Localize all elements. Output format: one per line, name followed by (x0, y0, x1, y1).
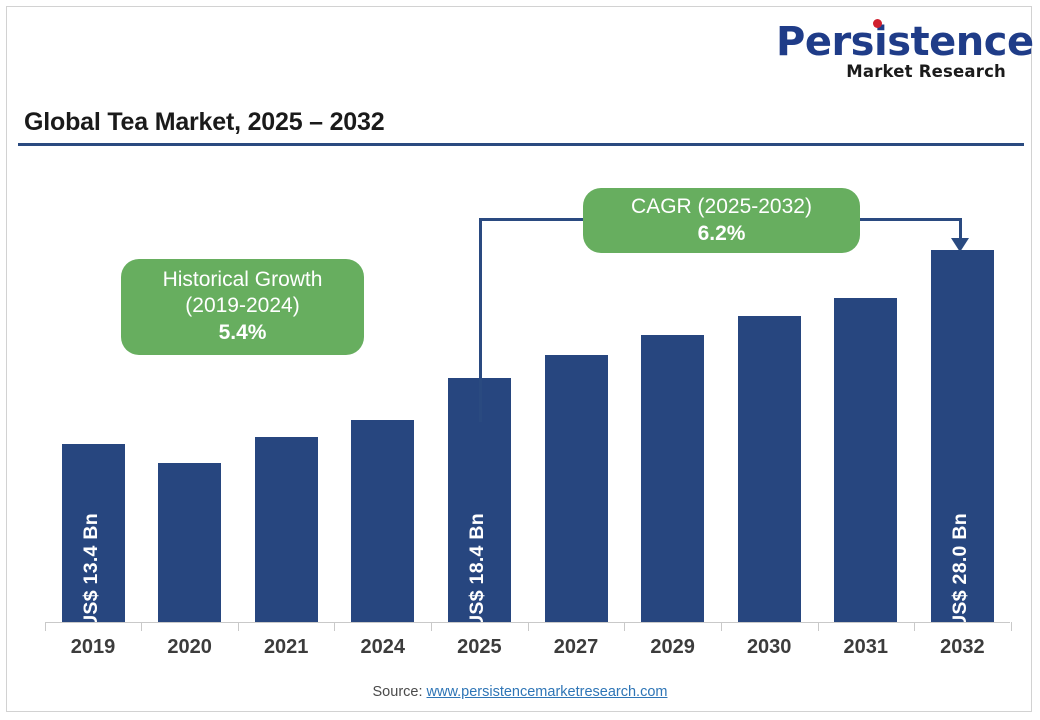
source-link[interactable]: www.persistencemarketresearch.com (427, 684, 668, 700)
source-line: Source: www.persistencemarketresearch.co… (0, 684, 1040, 700)
connector-stem (479, 374, 482, 422)
x-tick-9 (914, 622, 915, 631)
callout-cagr-line1: CAGR (2025-2032) (631, 194, 812, 220)
x-label-2025: 2025 (429, 636, 529, 659)
bar-2030 (738, 316, 801, 622)
x-tick-4 (431, 622, 432, 631)
callout-historical-growth: Historical Growth (2019-2024) 5.4% (121, 259, 364, 355)
bar-value-label-2019: US$ 13.4 Bn (80, 513, 103, 629)
bar-value-label-2032: US$ 28.0 Bn (949, 513, 972, 629)
x-label-2027: 2027 (526, 636, 626, 659)
connector-arrow-icon (951, 238, 969, 252)
callout-historical-line1: Historical Growth (163, 267, 323, 293)
bar-value-label-2025: US$ 18.4 Bn (466, 513, 489, 629)
x-label-2032: 2032 (912, 636, 1012, 659)
x-tick-5 (528, 622, 529, 631)
x-tick-0 (45, 622, 46, 631)
x-label-2021: 2021 (236, 636, 336, 659)
x-tick-3 (334, 622, 335, 631)
source-prefix: Source: (373, 684, 427, 700)
x-tick-8 (818, 622, 819, 631)
plot-area: US$ 13.4 BnUS$ 18.4 BnUS$ 28.0 Bn 201920… (0, 0, 1040, 720)
x-label-2020: 2020 (140, 636, 240, 659)
x-tick-7 (721, 622, 722, 631)
bar-2020 (158, 463, 221, 622)
x-tick-2 (238, 622, 239, 631)
connector-drop (959, 218, 962, 240)
x-tick-1 (141, 622, 142, 631)
callout-historical-line2: (2019-2024) (185, 293, 299, 319)
x-tick-6 (624, 622, 625, 631)
x-label-2024: 2024 (333, 636, 433, 659)
x-label-2029: 2029 (623, 636, 723, 659)
callout-historical-value: 5.4% (219, 319, 267, 346)
x-label-2019: 2019 (43, 636, 143, 659)
callout-cagr: CAGR (2025-2032) 6.2% (583, 188, 860, 253)
chart-canvas: Persistence Market Research Global Tea M… (0, 0, 1040, 720)
connector-riser (479, 218, 482, 376)
bar-2021 (255, 437, 318, 622)
x-tick-10 (1011, 622, 1012, 631)
x-label-2031: 2031 (816, 636, 916, 659)
x-label-2030: 2030 (719, 636, 819, 659)
callout-cagr-value: 6.2% (698, 220, 746, 247)
bar-2031 (834, 298, 897, 622)
bar-2024 (351, 420, 414, 622)
bar-2027 (545, 355, 608, 622)
bar-2029 (641, 335, 704, 622)
